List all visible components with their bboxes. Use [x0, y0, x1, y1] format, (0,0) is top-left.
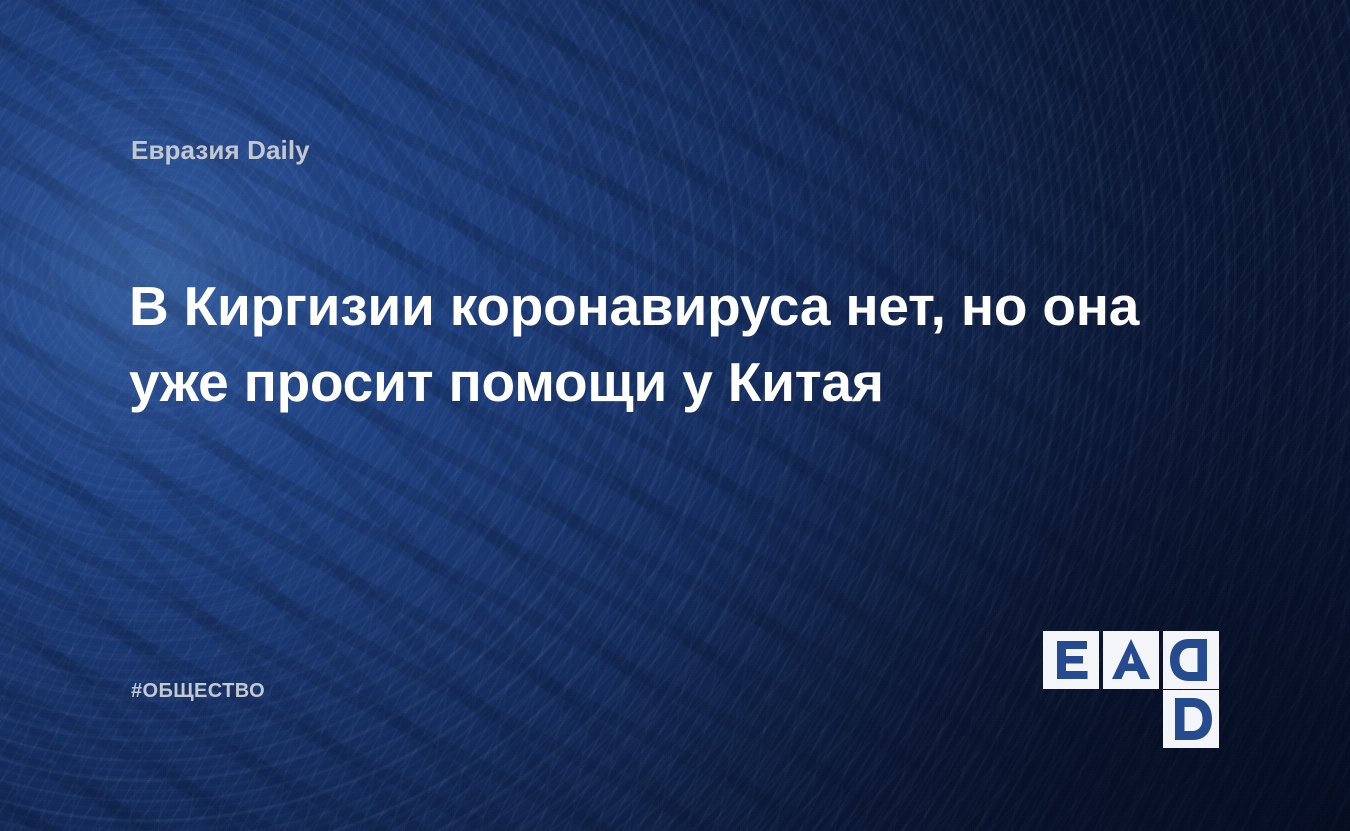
logo-tile-d [1163, 690, 1219, 748]
letter-a-icon [1103, 631, 1159, 689]
letter-d-icon [1163, 690, 1219, 748]
letter-e-icon [1043, 631, 1099, 689]
category-tag[interactable]: #ОБЩЕСТВО [131, 680, 265, 703]
article-share-card: Евразия Daily В Киргизии коронавируса не… [0, 0, 1350, 831]
letter-d-rotated-icon [1163, 631, 1219, 689]
headline: В Киргизии коронавируса нет, но она уже … [129, 268, 1139, 420]
eadaily-logo [1043, 631, 1223, 707]
logo-tile-e [1043, 631, 1099, 689]
logo-tile-a [1103, 631, 1159, 689]
site-name: Евразия Daily [131, 135, 310, 166]
logo-tile-d-rotated [1163, 631, 1219, 689]
headline-line-2: уже просит помощи у Китая [129, 344, 1139, 420]
headline-line-1: В Киргизии коронавируса нет, но она [129, 268, 1139, 344]
